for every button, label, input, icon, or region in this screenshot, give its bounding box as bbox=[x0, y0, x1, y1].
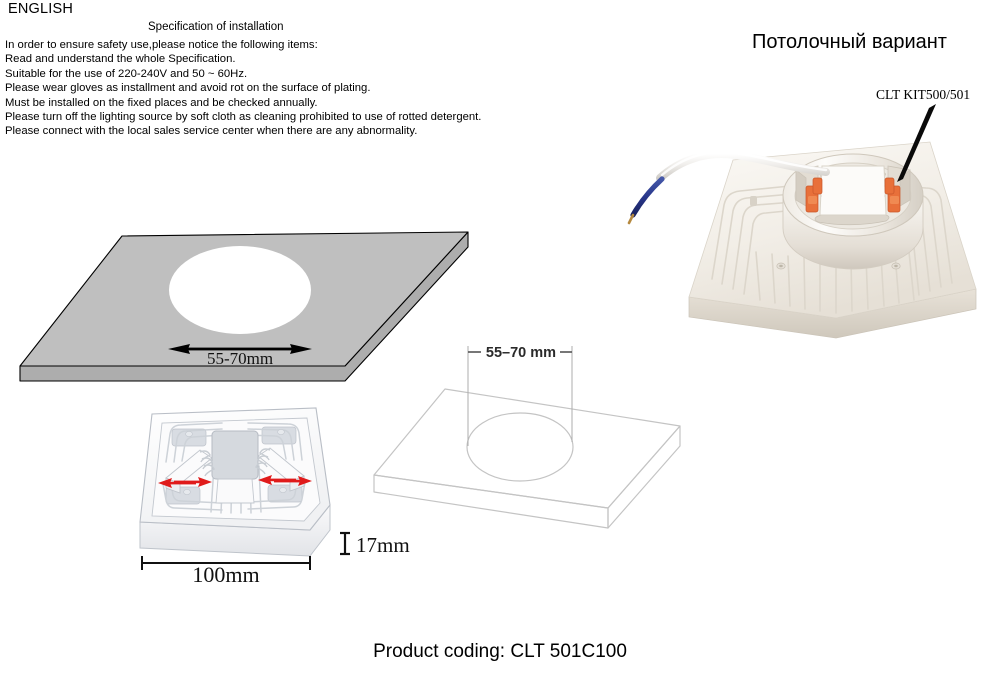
installation-spec-sheet: ENGLISH Specification of installation In… bbox=[0, 0, 1000, 690]
fixture-driver-box bbox=[212, 431, 258, 479]
bracket-inner-cavity bbox=[795, 163, 911, 229]
fixture-spring-clip bbox=[166, 450, 214, 493]
bracket-cylinder-wall bbox=[783, 195, 923, 269]
plate-side-face bbox=[20, 232, 468, 381]
instruction-line: Must be installed on the fixed places an… bbox=[5, 96, 475, 110]
product-coding-text: Product coding: CLT 501C100 bbox=[0, 641, 1000, 663]
bracket-terminal-block bbox=[820, 166, 886, 215]
bracket-keyhole-slot bbox=[815, 168, 889, 225]
fixture-groove-pattern bbox=[163, 423, 305, 513]
cutout-plate-solid-illustration: 55-70mm bbox=[20, 232, 468, 381]
clip-direction-arrow bbox=[158, 475, 312, 488]
wireframe-right-face bbox=[608, 426, 680, 528]
fixture-height-dimension bbox=[340, 533, 350, 554]
instruction-line: In order to ensure safety use,please not… bbox=[5, 38, 475, 52]
fixture-terminal-housing bbox=[216, 479, 254, 503]
instruction-line: Please wear gloves as installment and av… bbox=[5, 81, 475, 95]
fixture-inner-tray bbox=[152, 418, 320, 521]
fixture-corner-pad bbox=[166, 427, 302, 504]
wireframe-top-face bbox=[374, 389, 680, 508]
fixture-side-face bbox=[140, 505, 330, 556]
instruction-list: In order to ensure safety use,please not… bbox=[5, 38, 475, 139]
panel-side-face bbox=[689, 289, 976, 338]
bracket-wing bbox=[796, 166, 910, 206]
fixture-rear-illustration: 100mm 17mm bbox=[140, 408, 410, 587]
panel-groove-pattern bbox=[712, 185, 952, 313]
supply-cable bbox=[660, 154, 826, 178]
blue-conductor bbox=[633, 179, 662, 215]
instruction-line: Please connect with the local sales serv… bbox=[5, 124, 475, 138]
kit-callout-label: CLT KIT500/501 bbox=[876, 87, 970, 103]
language-title: ENGLISH bbox=[8, 1, 73, 17]
orange-spring-clip bbox=[806, 178, 900, 212]
fixture-screw-boss bbox=[184, 429, 287, 494]
ceiling-variant-title: Потолочный вариант bbox=[752, 31, 947, 54]
copper-tip bbox=[629, 215, 633, 223]
supply-cable-highlight bbox=[662, 152, 826, 175]
cutout-hole bbox=[169, 246, 311, 334]
wireframe-hole bbox=[467, 413, 573, 481]
cutout-dimension-arrow bbox=[168, 344, 312, 354]
instruction-line: Read and understand the whole Specificat… bbox=[5, 52, 475, 66]
fixture-width-dimension bbox=[142, 556, 310, 570]
instruction-line: Please turn off the lighting source by s… bbox=[5, 110, 475, 124]
instruction-line: Suitable for the use of 220-240V and 50 … bbox=[5, 67, 475, 81]
callout-arrow bbox=[897, 104, 936, 182]
wireframe-dimension-label: 55–70 mm bbox=[486, 345, 556, 361]
bracket-outer-rim bbox=[783, 154, 923, 236]
specification-title: Specification of installation bbox=[148, 21, 284, 33]
cutout-dimension-label: 55-70mm bbox=[207, 349, 273, 368]
fixture-spring-clip bbox=[256, 448, 304, 491]
fixture-width-label: 100mm bbox=[192, 562, 259, 587]
panel-top-face bbox=[689, 142, 976, 318]
cutout-plate-wireframe-illustration bbox=[374, 346, 680, 528]
plate-top-face bbox=[20, 232, 468, 366]
fixture-height-label: 17mm bbox=[356, 533, 410, 557]
wireframe-front-face bbox=[374, 475, 608, 528]
fixture-body bbox=[140, 408, 330, 530]
ceiling-mount-assembly-illustration bbox=[629, 104, 976, 338]
panel-screw-boss bbox=[777, 263, 900, 269]
panel-side-notch bbox=[750, 196, 922, 206]
